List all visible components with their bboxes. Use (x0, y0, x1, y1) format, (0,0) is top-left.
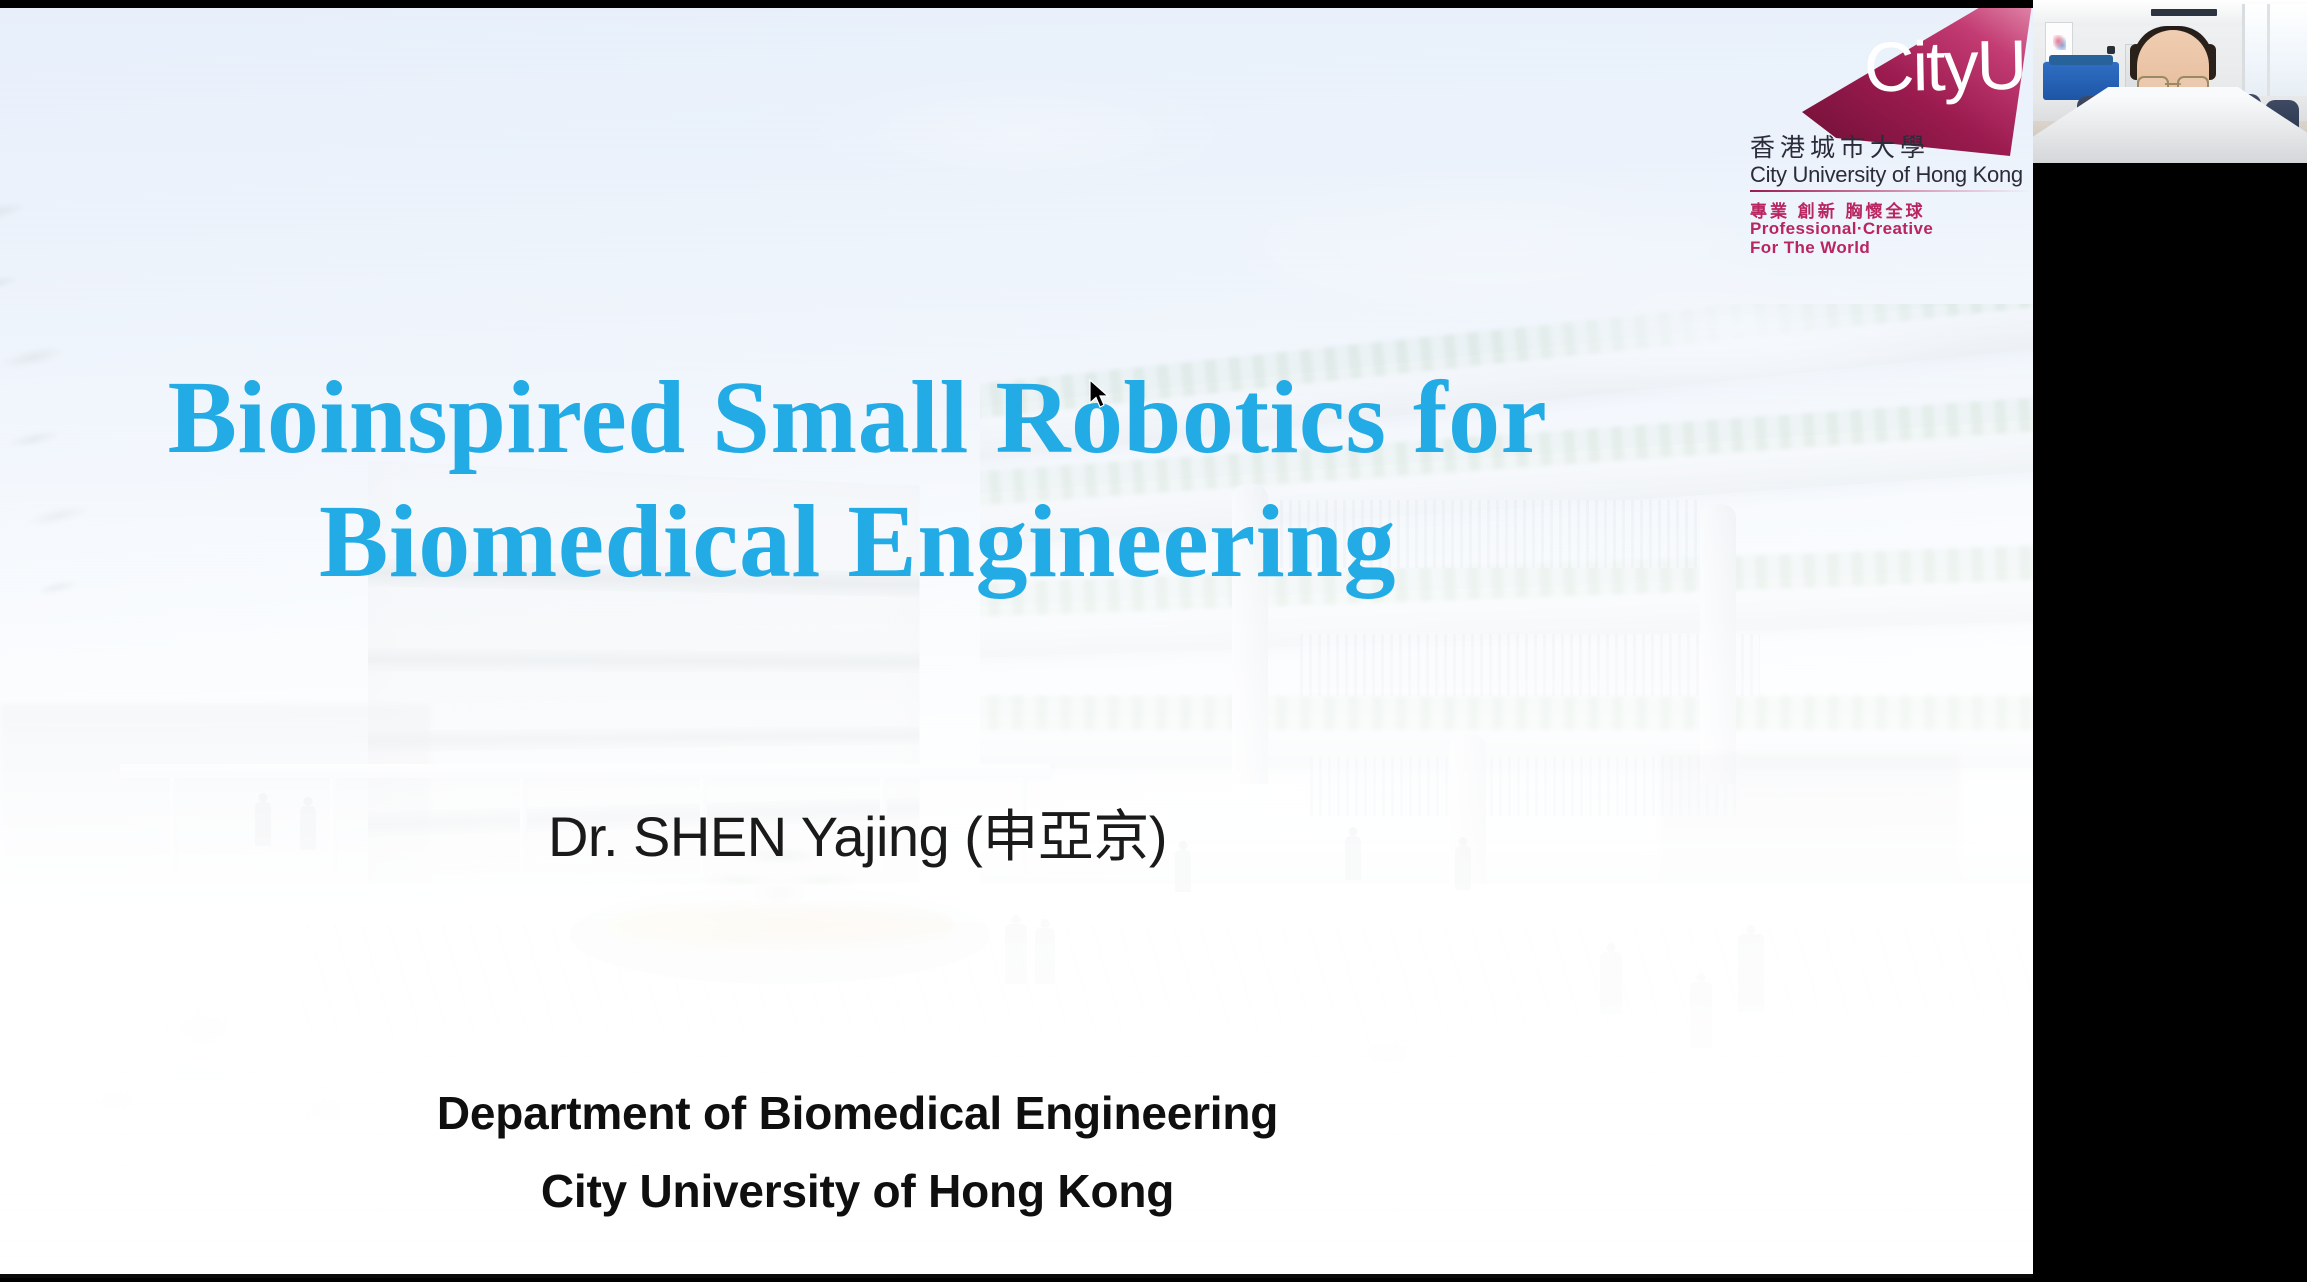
pedestrian (1738, 934, 1764, 1012)
slide-title-line-1: Bioinspired Small Robotics for (0, 356, 1715, 480)
pedestrian (1005, 924, 1027, 984)
affiliation-university: City University of Hong Kong (0, 1152, 1715, 1230)
covered-walkway (120, 764, 1050, 778)
cityu-wordmark: CityU (1863, 25, 2025, 108)
panel-empty-area (2033, 163, 2307, 1282)
pedestrian (1690, 982, 1712, 1048)
cityu-motto-en-1: Professional·Creative (1750, 219, 1933, 239)
letterbox-bottom (0, 1274, 2033, 1278)
letterbox-top (0, 4, 2033, 8)
cityu-logo: CityU 香港城市大學 City University of Hong Kon… (1742, 4, 2032, 254)
pedestrian (1600, 952, 1622, 1014)
slide-affiliation: Department of Biomedical Engineering Cit… (0, 1074, 1715, 1230)
cityu-name-zh: 香港城市大學 (1750, 128, 1930, 164)
cityu-logo-divider (1750, 190, 2032, 192)
slide-title-line-2: Biomedical Engineering (0, 480, 1715, 604)
speaker-webcam-video[interactable] (2033, 0, 2307, 163)
cityu-name-en: City University of Hong Kong (1750, 162, 2023, 188)
presentation-slide[interactable]: CityU 香港城市大學 City University of Hong Kon… (0, 4, 2033, 1278)
cityu-motto-en-2: For The World (1750, 238, 1870, 258)
screen-share-view: CityU 香港城市大學 City University of Hong Kon… (0, 0, 2307, 1282)
pedestrian (1035, 928, 1055, 984)
slide-presenter-name: Dr. SHEN Yajing (申亞京) (0, 792, 1715, 873)
affiliation-department: Department of Biomedical Engineering (0, 1074, 1715, 1152)
slide-title: Bioinspired Small Robotics for Biomedica… (0, 356, 1715, 604)
speaker-panel[interactable] (2033, 0, 2307, 1282)
